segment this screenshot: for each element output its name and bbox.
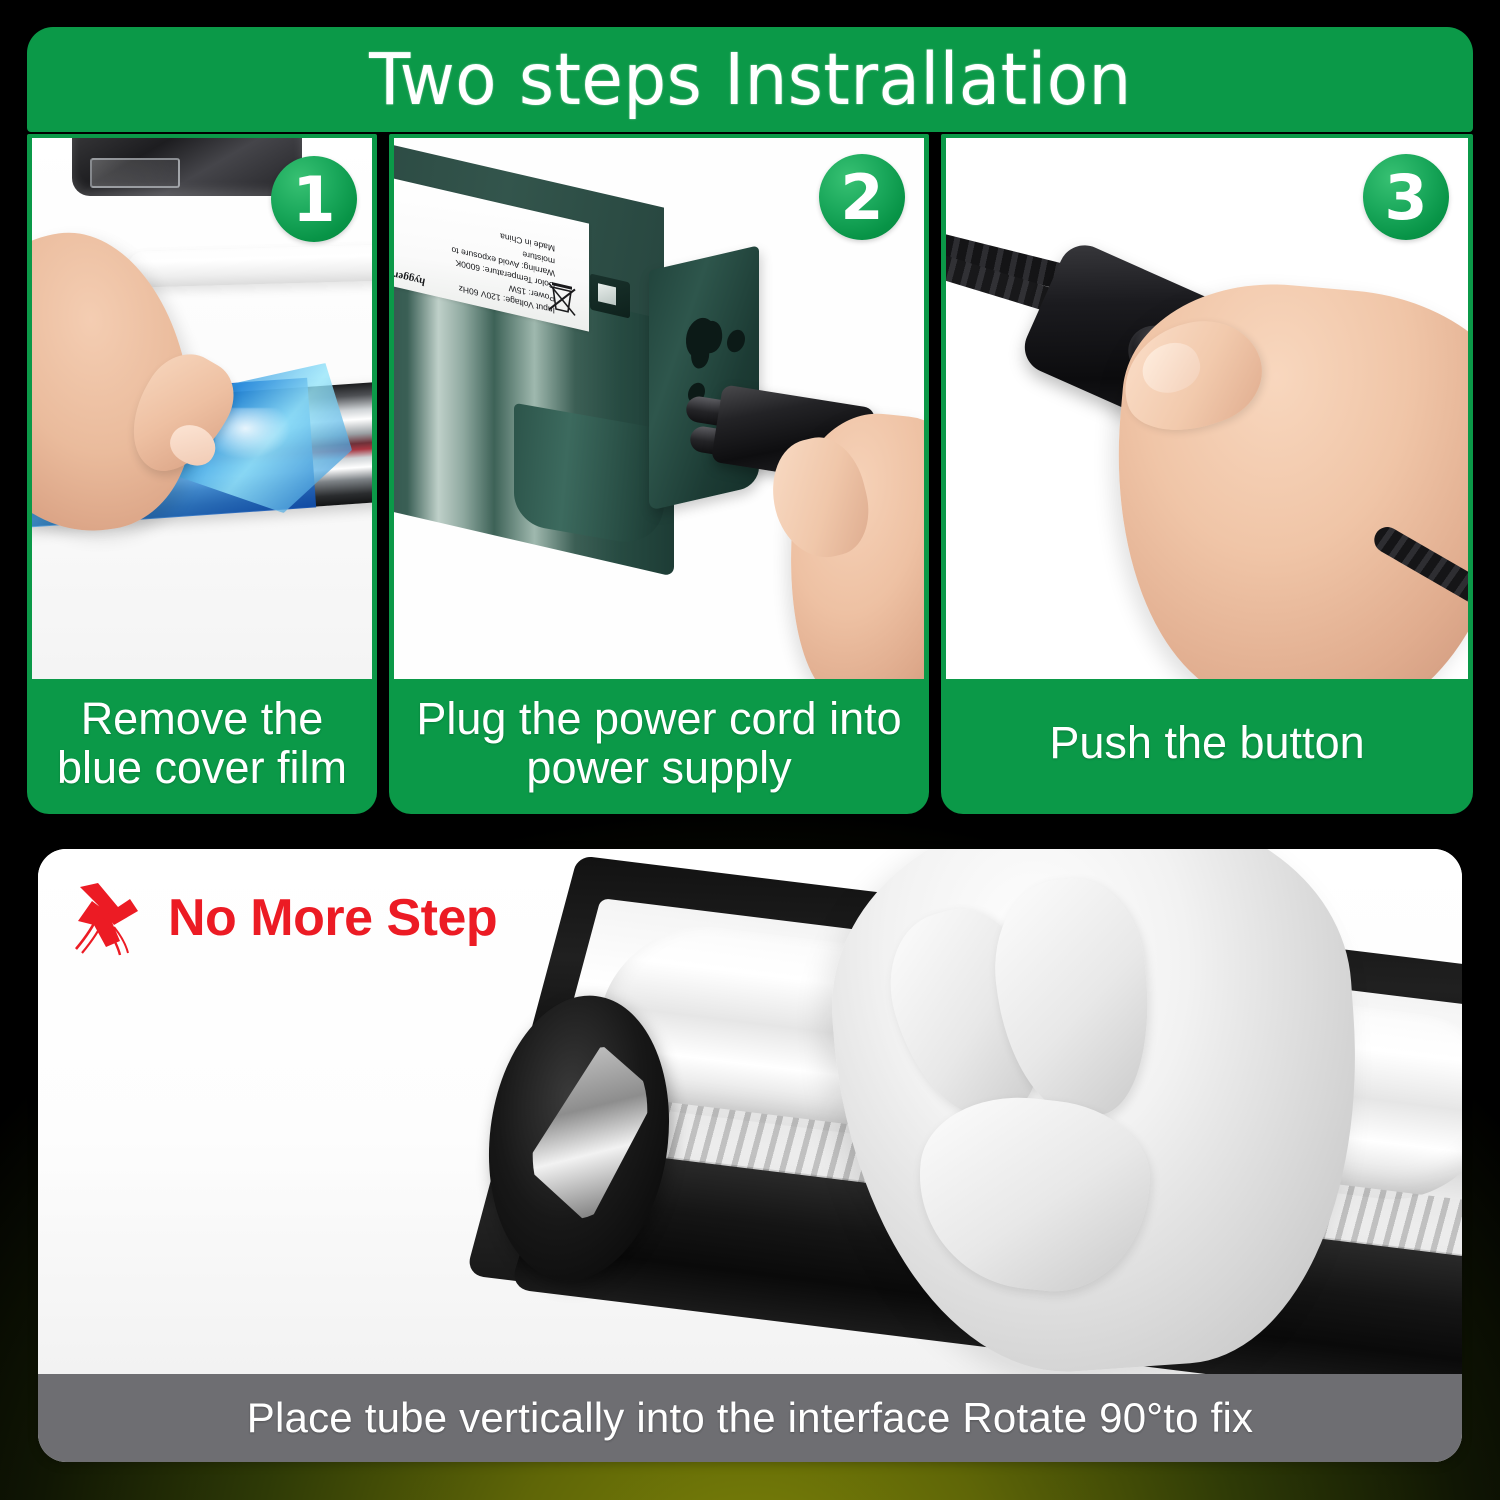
no-more-step-label: No More Step (168, 888, 497, 948)
step-caption-1: Remove the blue cover film (27, 679, 377, 814)
lamp-tube-object (127, 244, 372, 288)
bottom-caption: Place tube vertically into the interface… (38, 1374, 1462, 1462)
header-bar: Two steps Instrallation (27, 27, 1473, 132)
weee-crossed-bin-icon (547, 278, 577, 319)
infographic-root: Two steps Instrallation 1 Remove the blu… (0, 0, 1500, 1500)
plastic-bag-object (72, 138, 302, 196)
no-more-step-badge: No More Step (68, 877, 497, 959)
step-caption-2: Plug the power cord into power supply (389, 679, 929, 814)
step-badge-2: 2 (819, 154, 905, 240)
step-badge-3: 3 (1363, 154, 1449, 240)
steps-row: 1 Remove the blue cover film Input Volta… (27, 134, 1473, 814)
page-title: Two steps Instrallation (369, 38, 1132, 121)
power-supply-end-face (649, 245, 759, 510)
step-card-1: 1 Remove the blue cover film (27, 134, 377, 814)
step-badge-1: 1 (271, 156, 357, 242)
red-cross-icon (68, 877, 150, 959)
bottom-card: No More Step Place tube vertically into … (38, 849, 1462, 1462)
step-card-2: Input Voltage: 120V 60Hz Power: 15W Colo… (389, 134, 929, 814)
step-card-3: 3 Push the button (941, 134, 1473, 814)
hand-object (1096, 271, 1468, 679)
step-caption-3: Push the button (941, 679, 1473, 814)
